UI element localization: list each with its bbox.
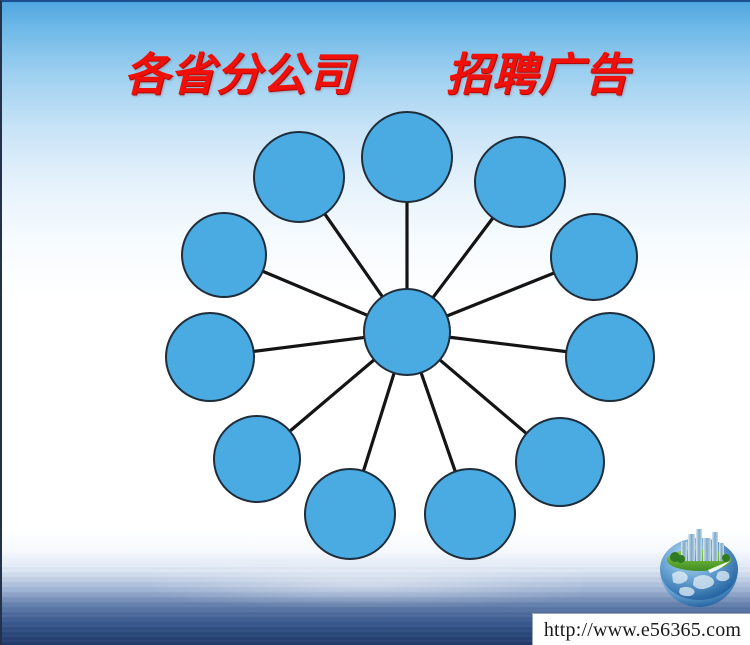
spoke-line-5 xyxy=(439,359,527,434)
hub-node[interactable] xyxy=(364,289,450,375)
branch-node-circle-6[interactable] xyxy=(425,469,515,559)
branch-node-circle-7[interactable] xyxy=(305,469,395,559)
hub-and-spoke-diagram xyxy=(2,2,750,645)
branch-node-10[interactable] xyxy=(182,213,266,297)
spoke-line-4 xyxy=(449,337,568,352)
branch-node-9[interactable] xyxy=(166,313,254,401)
branch-node-circle-8[interactable] xyxy=(214,416,300,502)
spoke-line-6 xyxy=(421,372,456,473)
branch-node-circle-11[interactable] xyxy=(254,132,344,222)
spoke-line-10 xyxy=(262,271,368,316)
branch-node-circle-2[interactable] xyxy=(475,137,565,227)
branch-node-3[interactable] xyxy=(551,214,637,300)
branch-node-11[interactable] xyxy=(254,132,344,222)
spoke-line-2 xyxy=(432,217,493,298)
slide-canvas: 各省分公司 招聘广告 xyxy=(0,0,750,645)
hub-node-group xyxy=(364,289,450,375)
watermark-url-box: http://www.e56365.com xyxy=(532,613,750,645)
branch-node-circle-10[interactable] xyxy=(182,213,266,297)
globe-svg xyxy=(650,526,748,610)
spoke-line-9 xyxy=(253,337,366,351)
spoke-line-3 xyxy=(446,273,555,317)
branch-node-circle-1[interactable] xyxy=(362,112,452,202)
branch-node-4[interactable] xyxy=(566,313,654,401)
hub-node-circle[interactable] xyxy=(364,289,450,375)
spoke-line-11 xyxy=(324,213,383,297)
branch-node-circle-4[interactable] xyxy=(566,313,654,401)
branch-node-8[interactable] xyxy=(214,416,300,502)
globe-icon xyxy=(650,526,748,610)
branch-node-1[interactable] xyxy=(362,112,452,202)
branch-node-5[interactable] xyxy=(516,418,604,506)
spoke-line-8 xyxy=(289,359,375,432)
branch-node-2[interactable] xyxy=(475,137,565,227)
spoke-line-7 xyxy=(363,372,394,472)
branch-node-circle-5[interactable] xyxy=(516,418,604,506)
branch-node-circle-3[interactable] xyxy=(551,214,637,300)
watermark-url-text: http://www.e56365.com xyxy=(544,619,741,642)
branch-node-7[interactable] xyxy=(305,469,395,559)
branch-node-circle-9[interactable] xyxy=(166,313,254,401)
branch-node-6[interactable] xyxy=(425,469,515,559)
